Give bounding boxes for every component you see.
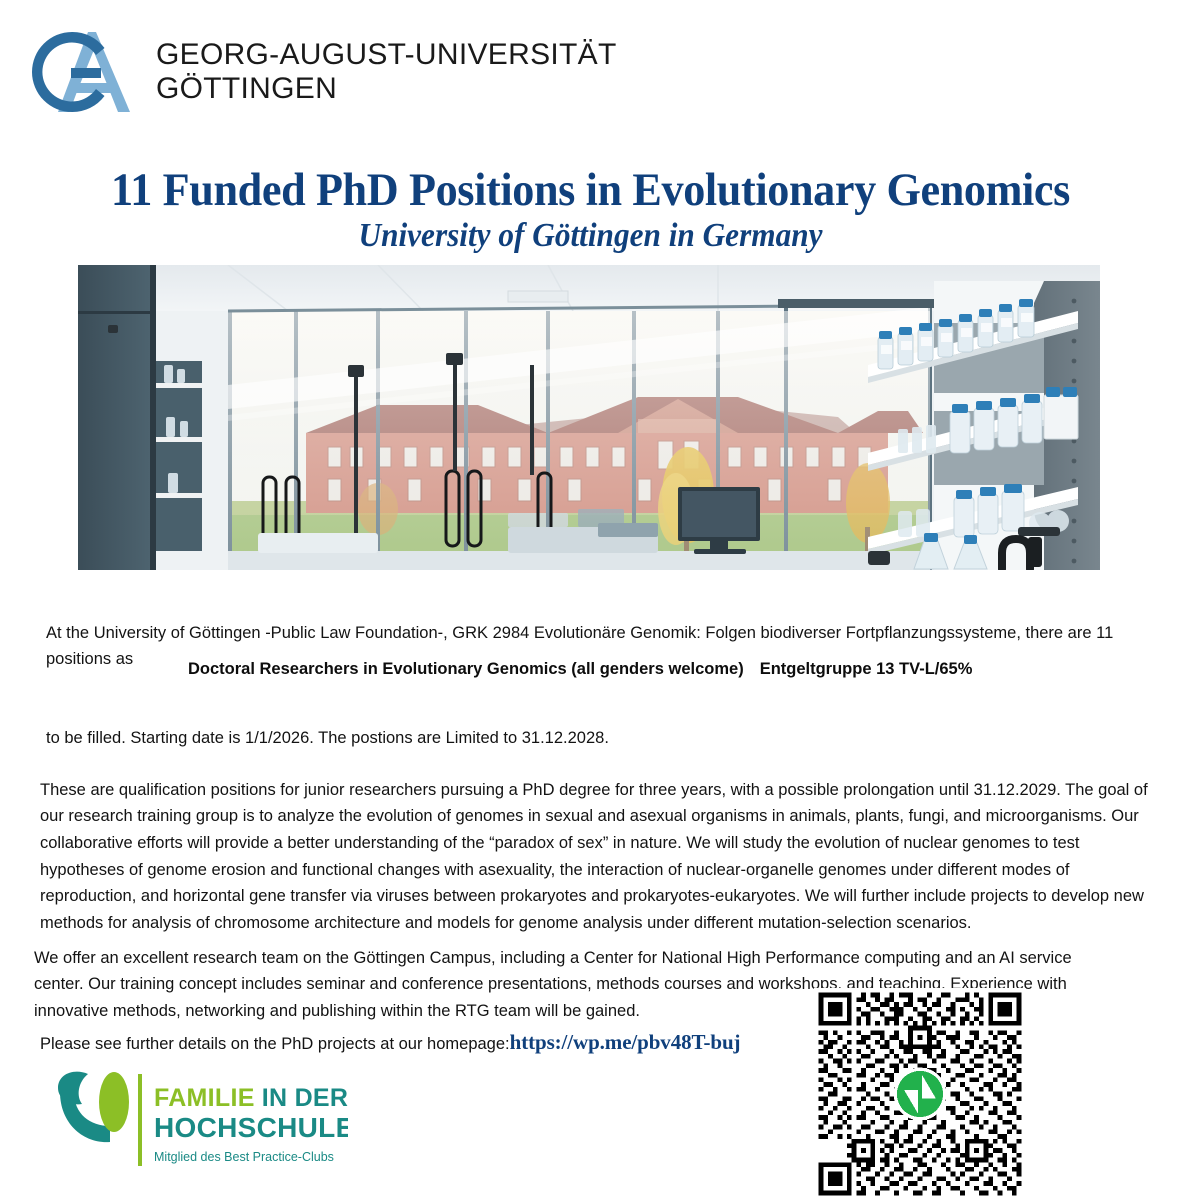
start-date-paragraph: to be filled. Starting date is 1/1/2026.… [46, 725, 1142, 752]
wordmark-line-1: GEORG-AUGUST-UNIVERSITÄT [156, 38, 617, 72]
hero-image [78, 265, 1100, 570]
jetpack-badge-icon [897, 1071, 943, 1117]
qr-code[interactable] [814, 988, 1026, 1200]
homepage-label: Please see further details on the PhD pr… [40, 1035, 510, 1053]
wordmark-line-2: GÖTTINGEN [156, 72, 617, 106]
ga-monogram-icon [30, 28, 142, 116]
svg-text:HOCHSCHULE: HOCHSCHULE [154, 1112, 348, 1143]
pay-grade: Entgeltgruppe 13 TV-L/65% [760, 660, 973, 678]
position-title: Doctoral Researchers in Evolutionary Gen… [188, 660, 744, 678]
description-paragraph: These are qualification positions for ju… [40, 777, 1152, 937]
homepage-link[interactable]: https://wp.me/pbv48T-buj [510, 1030, 741, 1054]
svg-text:FAMILIEIN DER: FAMILIEIN DER [154, 1084, 348, 1112]
position-heading: Doctoral Researchers in Evolutionary Gen… [188, 660, 972, 679]
university-logo: GEORG-AUGUST-UNIVERSITÄT GÖTTINGEN [30, 28, 617, 116]
university-wordmark: GEORG-AUGUST-UNIVERSITÄT GÖTTINGEN [156, 38, 617, 105]
svg-text:Mitglied des Best Practice-Clu: Mitglied des Best Practice-Clubs [154, 1150, 334, 1164]
page-subtitle: University of Göttingen in Germany [47, 217, 1134, 255]
page-title: 11 Funded PhD Positions in Evolutionary … [35, 163, 1145, 217]
homepage-line: Please see further details on the PhD pr… [40, 1025, 800, 1059]
familie-in-der-hochschule-logo: FAMILIEIN DER HOCHSCHULE Mitglied des Be… [48, 1062, 348, 1180]
